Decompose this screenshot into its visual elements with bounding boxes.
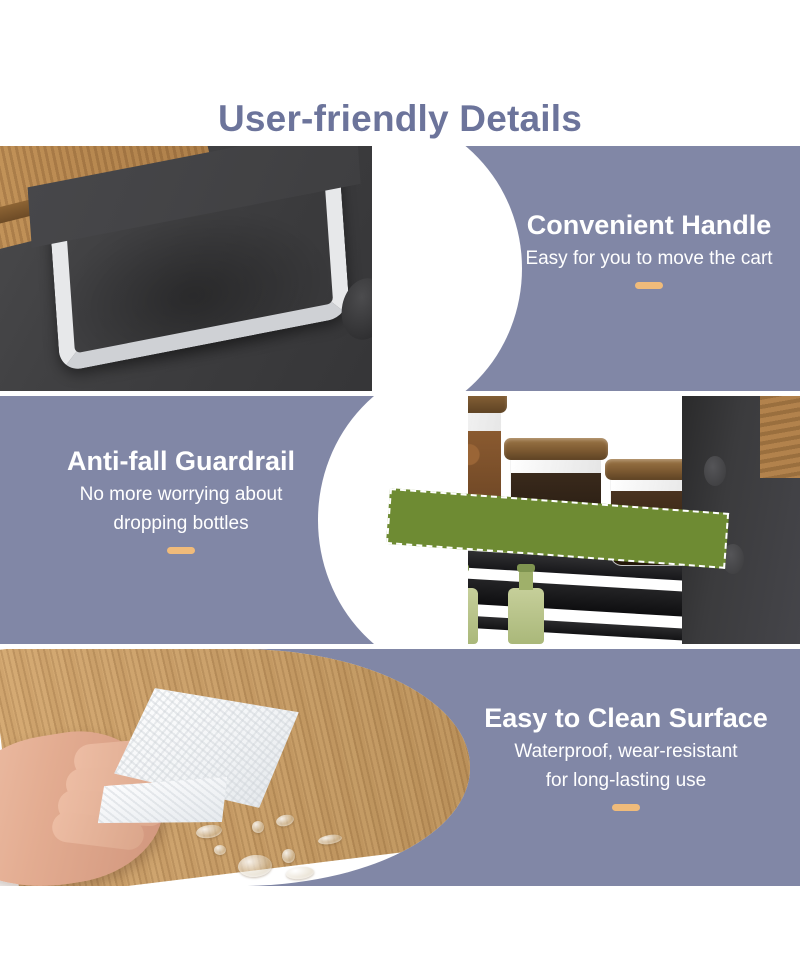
- clean-surface-heading: Easy to Clean Surface: [452, 701, 800, 735]
- page-title: User-friendly Details: [0, 95, 800, 143]
- divider-pill: [612, 804, 640, 811]
- clean-surface-subtext-line2: for long-lasting use: [452, 768, 800, 793]
- water-droplet: [252, 821, 264, 833]
- cart-wood-trim: [760, 396, 800, 478]
- handle-subtext: Easy for you to move the cart: [498, 246, 800, 271]
- handle-photo: [0, 146, 430, 391]
- water-droplet: [214, 845, 226, 855]
- feature-panel-convenient-handle: Convenient Handle Easy for you to move t…: [0, 146, 800, 391]
- clean-surface-photo: [0, 649, 470, 886]
- handle-heading: Convenient Handle: [498, 208, 800, 242]
- clean-surface-subtext-line1: Waterproof, wear-resistant: [452, 739, 800, 764]
- green-bottle-2: [508, 588, 544, 644]
- divider-pill: [635, 282, 663, 289]
- cart-oval-detail: [704, 456, 726, 486]
- divider-pill: [167, 547, 195, 554]
- feature-panel-easy-to-clean-surface: Easy to Clean Surface Waterproof, wear-r…: [0, 649, 800, 886]
- guardrail-subtext-line2: dropping bottles: [0, 511, 362, 536]
- guardrail-heading: Anti-fall Guardrail: [0, 444, 362, 478]
- jar-wooden-lid: [504, 438, 607, 460]
- feature-panel-anti-fall-guardrail: Anti-fall Guardrail No more worrying abo…: [0, 396, 800, 644]
- guardrail-subtext-line1: No more worrying about: [0, 482, 362, 507]
- water-droplet: [282, 849, 295, 863]
